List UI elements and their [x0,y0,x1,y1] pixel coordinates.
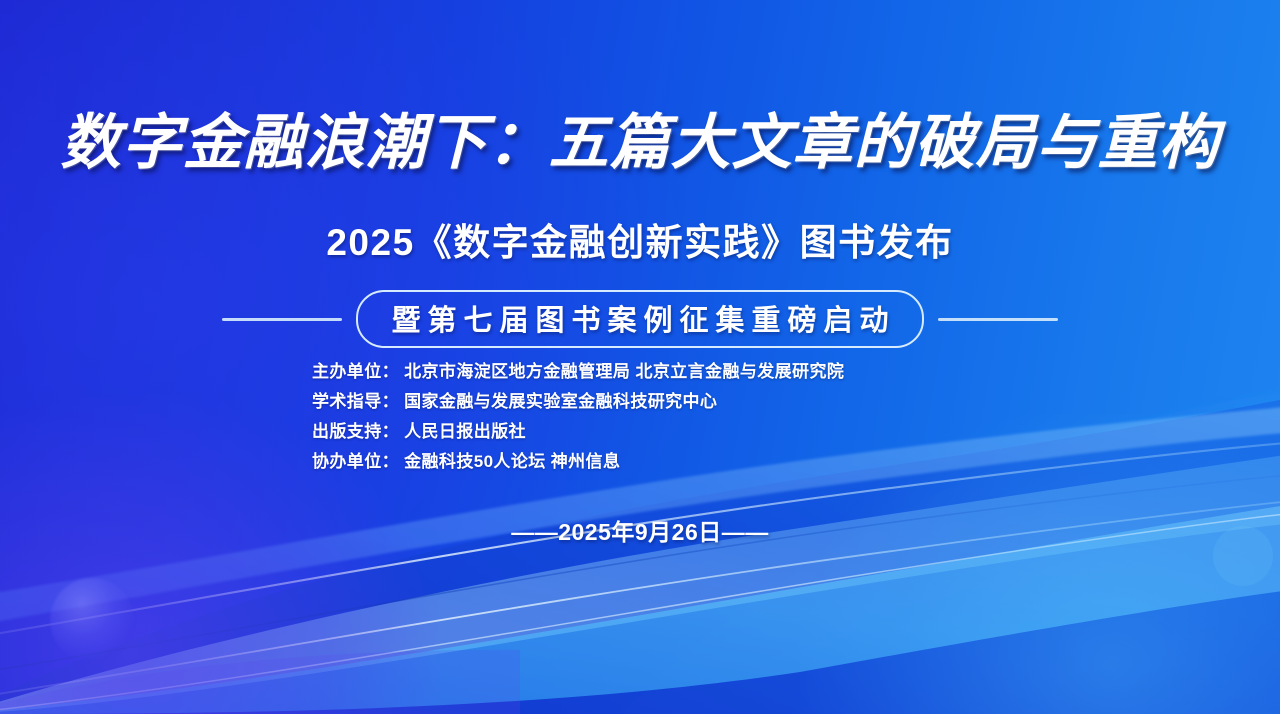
credit-label-academic: 学术指导： [312,392,399,411]
banner-rule-left [222,318,342,321]
credit-row-publisher: 出版支持： 人民日报出版社 [312,417,844,447]
banner-row: 暨第七届图书案例征集重磅启动 [0,290,1280,348]
credit-value-publisher: 人民日报出版社 [404,422,526,441]
credit-row-academic: 学术指导： 国家金融与发展实验室金融科技研究中心 [312,387,844,417]
poster-canvas: 数字金融浪潮下：五篇大文章的破局与重构 2025《数字金融创新实践》图书发布 暨… [0,0,1280,714]
poster-content: 数字金融浪潮下：五篇大文章的破局与重构 2025《数字金融创新实践》图书发布 暨… [0,0,1280,714]
banner-rule-right [938,318,1058,321]
credits-list: 主办单位： 北京市海淀区地方金融管理局 北京立言金融与发展研究院 学术指导： 国… [312,357,844,477]
credit-label-coorganizer: 协办单位： [312,452,399,471]
credit-value-organizer: 北京市海淀区地方金融管理局 北京立言金融与发展研究院 [404,362,844,381]
event-date: ——2025年9月26日—— [0,513,1280,547]
credit-row-organizer: 主办单位： 北京市海淀区地方金融管理局 北京立言金融与发展研究院 [312,357,844,387]
page-subtitle: 2025《数字金融创新实践》图书发布 [0,212,1280,266]
credit-value-coorganizer: 金融科技50人论坛 神州信息 [404,452,620,471]
credit-row-coorganizer: 协办单位： 金融科技50人论坛 神州信息 [312,447,844,477]
page-title: 数字金融浪潮下：五篇大文章的破局与重构 [0,112,1280,175]
banner-pill-label: 暨第七届图书案例征集重磅启动 [356,290,923,348]
credit-label-publisher: 出版支持： [312,422,399,441]
credit-label-organizer: 主办单位： [312,362,399,381]
credit-value-academic: 国家金融与发展实验室金融科技研究中心 [404,392,717,411]
